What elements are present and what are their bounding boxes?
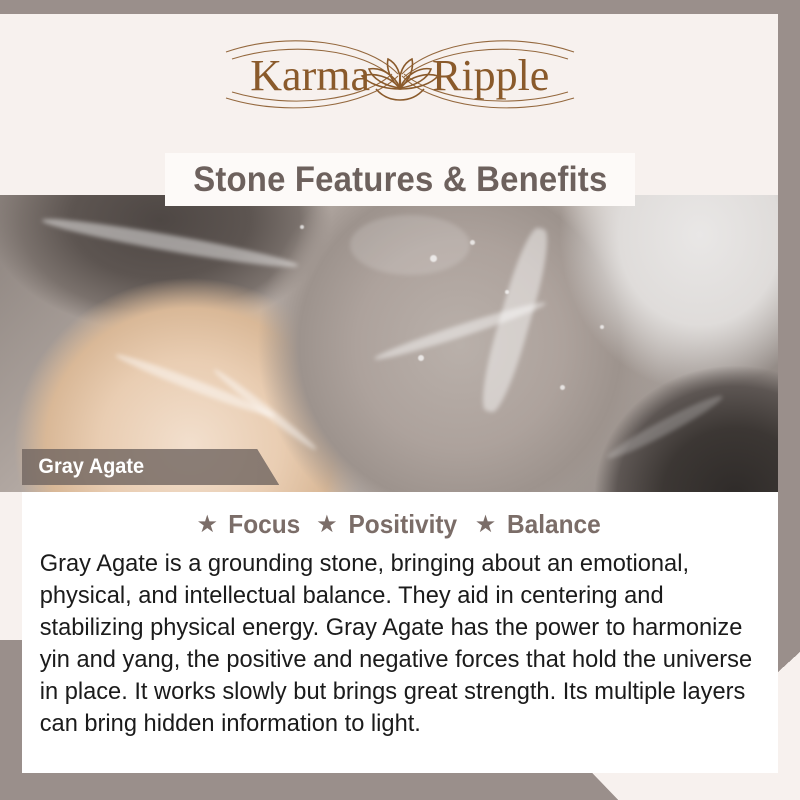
- stone-description: Gray Agate is a grounding stone, bringin…: [32, 548, 764, 740]
- frame-bottom-accent-bar-tip: [592, 773, 618, 800]
- brand-logo: Karma Ripple: [0, 32, 800, 118]
- content-panel: ★ Focus ★ Positivity ★ Balance Gray Agat…: [22, 492, 778, 773]
- brand-word-right: Ripple: [432, 51, 549, 100]
- stone-speck: [505, 290, 509, 294]
- brand-logo-svg: Karma Ripple: [140, 32, 660, 118]
- stone-speck: [600, 325, 604, 329]
- frame-right-accent-bar-tip: [778, 652, 800, 672]
- stone-speck: [470, 240, 475, 245]
- stone-speck: [300, 225, 304, 229]
- page-title-box: Stone Features & Benefits: [165, 153, 635, 206]
- stone-speck: [560, 385, 565, 390]
- star-icon: ★: [316, 513, 338, 535]
- stone-highlight: [211, 366, 319, 453]
- benefits-list: ★ Focus ★ Positivity ★ Balance: [32, 506, 768, 542]
- stone-highlight: [41, 213, 300, 274]
- lotus-icon: [362, 59, 438, 100]
- stone-speck: [430, 255, 437, 262]
- stone-highlight: [114, 350, 277, 421]
- stone-name-banner-notch: [257, 449, 279, 485]
- page-title: Stone Features & Benefits: [193, 160, 607, 200]
- benefit-label: Focus: [228, 509, 300, 540]
- stone-highlight: [604, 390, 725, 463]
- frame-right-accent-bar: [778, 0, 800, 652]
- star-icon: ★: [197, 513, 219, 535]
- header: Karma Ripple Stone Features & Benefits: [0, 14, 800, 195]
- benefit-label: Balance: [507, 509, 601, 540]
- stone-name-label: Gray Agate: [25, 455, 144, 479]
- benefit-label: Positivity: [349, 509, 458, 540]
- stone-photo: [0, 195, 800, 492]
- benefit-item-balance: ★ Balance: [475, 509, 604, 540]
- stone-name-banner: Gray Agate: [22, 449, 257, 485]
- star-icon: ★: [475, 513, 497, 535]
- infographic-card: Karma Ripple Stone Features & Benefits: [0, 0, 800, 800]
- brand-word-left: Karma: [250, 51, 370, 100]
- stone-photo-image: [0, 195, 800, 492]
- benefit-item-positivity: ★ Positivity: [316, 509, 461, 540]
- frame-top-accent-bar: [0, 0, 800, 14]
- frame-bottom-accent-bar: [0, 773, 592, 800]
- benefit-item-focus: ★ Focus: [197, 509, 303, 540]
- stone-highlight: [350, 215, 470, 275]
- stone-speck: [418, 355, 424, 361]
